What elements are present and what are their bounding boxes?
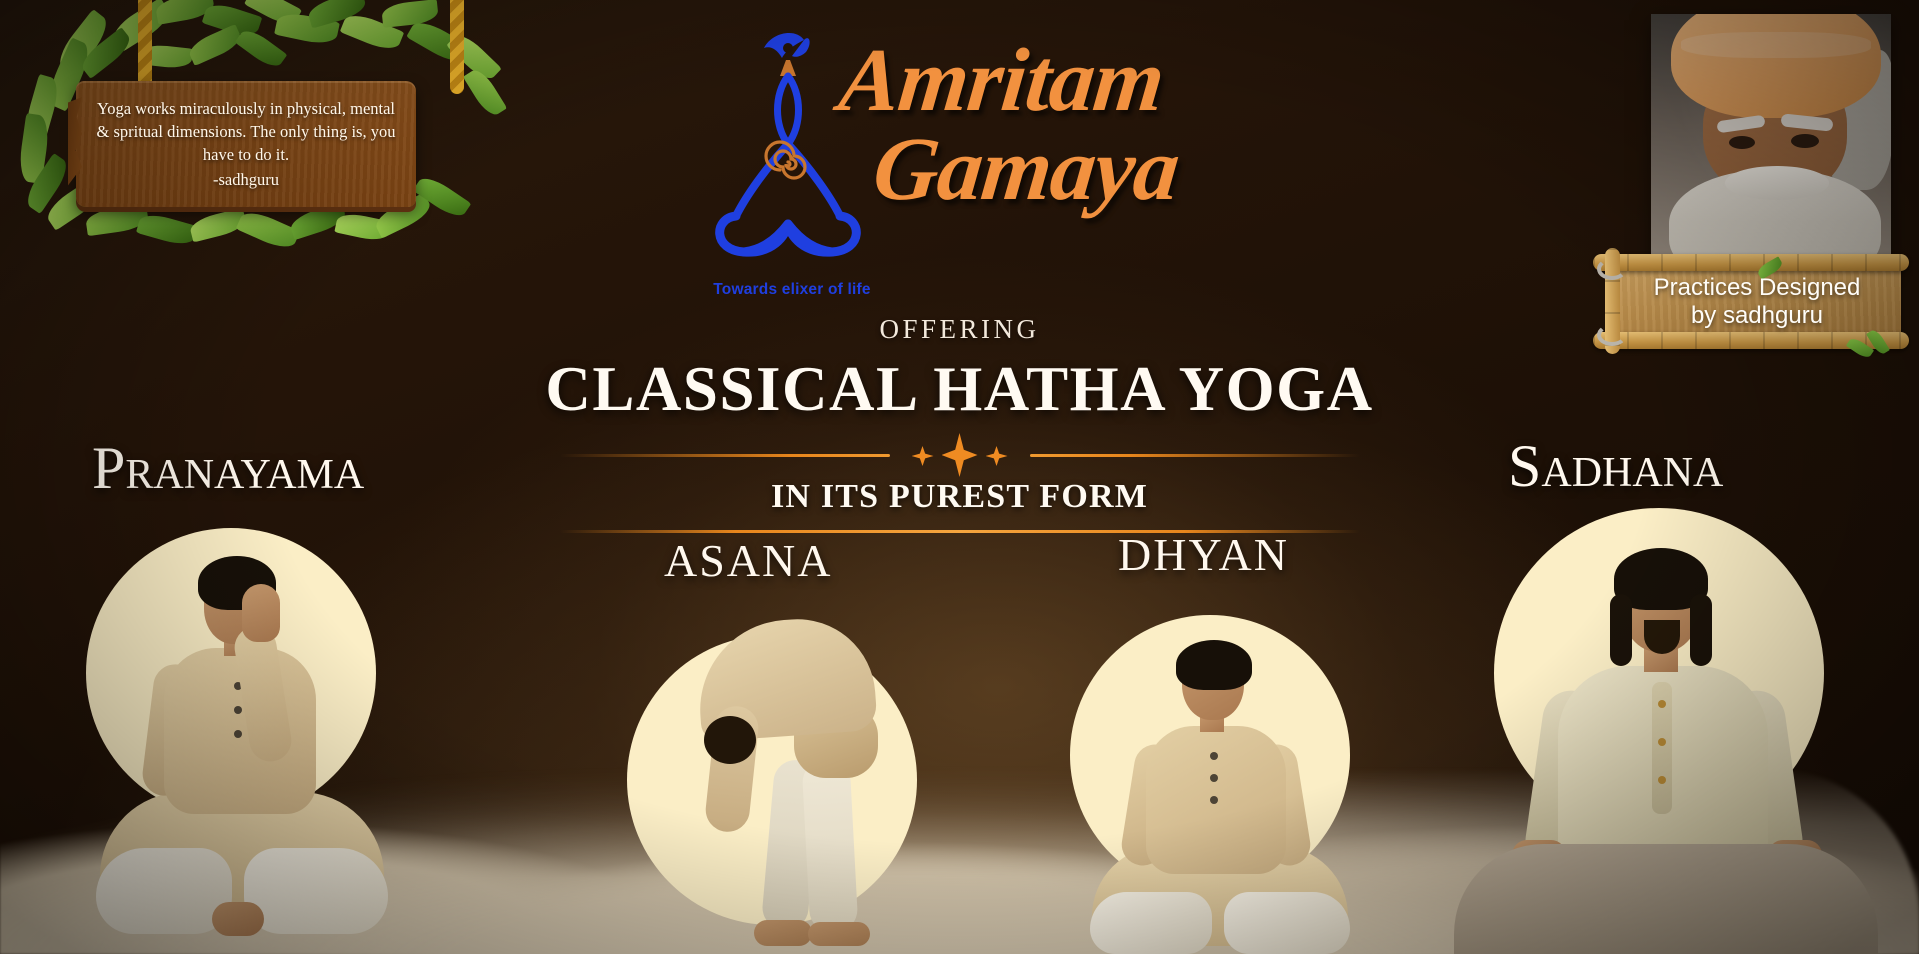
kurta-button — [234, 706, 242, 714]
kurta-button — [1210, 752, 1218, 760]
kurta-button — [1658, 738, 1666, 746]
figure-foot — [212, 902, 264, 936]
portrait-eye-right — [1791, 134, 1819, 148]
plaque-line-2: by sadhguru — [1691, 302, 1823, 329]
figure-leg-right — [802, 759, 859, 933]
diamond-small-right-icon — [986, 446, 1008, 466]
sign-rope-right — [450, 0, 464, 94]
yoga-promo-banner: Yoga works miraculously in physical, men… — [0, 0, 1919, 954]
plaque-text-block: Practices Designed by sadhguru — [1654, 274, 1861, 331]
plaque-ring-bottom — [1597, 324, 1627, 346]
kurta-button — [1210, 796, 1218, 804]
figure-head — [704, 716, 756, 764]
quote-attribution: -sadhguru — [94, 168, 398, 191]
figure-leg-left — [1090, 892, 1212, 954]
plaque-line-1: Practices Designed — [1654, 274, 1861, 301]
figure-asana — [690, 620, 900, 954]
figure-pranayama — [92, 556, 392, 954]
brand-line-1: Amritam — [836, 40, 1265, 123]
meditation-blanket — [1454, 844, 1878, 954]
diamond-sparkle-divider-icon — [560, 442, 1360, 468]
diamond-large-icon — [942, 433, 978, 477]
kurta-button — [1210, 774, 1218, 782]
designed-by-plaque: Practices Designed by sadhguru — [1589, 248, 1913, 354]
brand-name: Amritam Gamaya — [840, 40, 1260, 212]
quote-wooden-sign: Yoga works miraculously in physical, men… — [76, 81, 416, 207]
figure-foot-left — [754, 920, 812, 946]
figure-hair-strand-left — [1610, 594, 1632, 666]
logo-tagline: Towards elixer of life — [692, 281, 892, 299]
practice-label-sadhana: Sadhana — [1508, 432, 1723, 501]
figure-dhyan — [1090, 640, 1350, 954]
plaque-bamboo-top — [1593, 254, 1909, 271]
portrait-turban — [1671, 14, 1881, 118]
brand-line-2: Gamaya — [870, 129, 1265, 212]
kurta-button — [234, 730, 242, 738]
portrait-moustache — [1725, 166, 1829, 200]
kurta-button — [1658, 700, 1666, 708]
figure-hair-strand-right — [1690, 594, 1712, 666]
plaque-board: Practices Designed by sadhguru — [1613, 262, 1901, 342]
practice-label-dhyan: DHYAN — [1118, 528, 1289, 581]
figure-leg-right — [1224, 892, 1350, 954]
quote-text-block: Yoga works miraculously in physical, men… — [94, 97, 398, 191]
figure-foot-right — [808, 922, 870, 946]
practice-label-asana: ASANA — [664, 534, 832, 587]
sadhguru-portrait — [1651, 14, 1891, 264]
quote-text: Yoga works miraculously in physical, men… — [97, 99, 396, 164]
kurta-button — [1658, 776, 1666, 784]
practice-label-pranayama: Pranayama — [92, 434, 364, 503]
figure-sadhana — [1500, 548, 1830, 954]
main-title: CLASSICAL HATHA YOGA — [0, 353, 1919, 426]
figure-hair — [1176, 640, 1252, 690]
diamond-small-left-icon — [912, 446, 934, 466]
plaque-ring-top — [1597, 258, 1627, 280]
divider-bar-left — [560, 454, 890, 457]
figure-hand-at-nose — [242, 584, 280, 642]
portrait-eye-left — [1729, 136, 1755, 149]
divider-bar-right — [1030, 454, 1360, 457]
figure-leg-right — [244, 848, 388, 934]
